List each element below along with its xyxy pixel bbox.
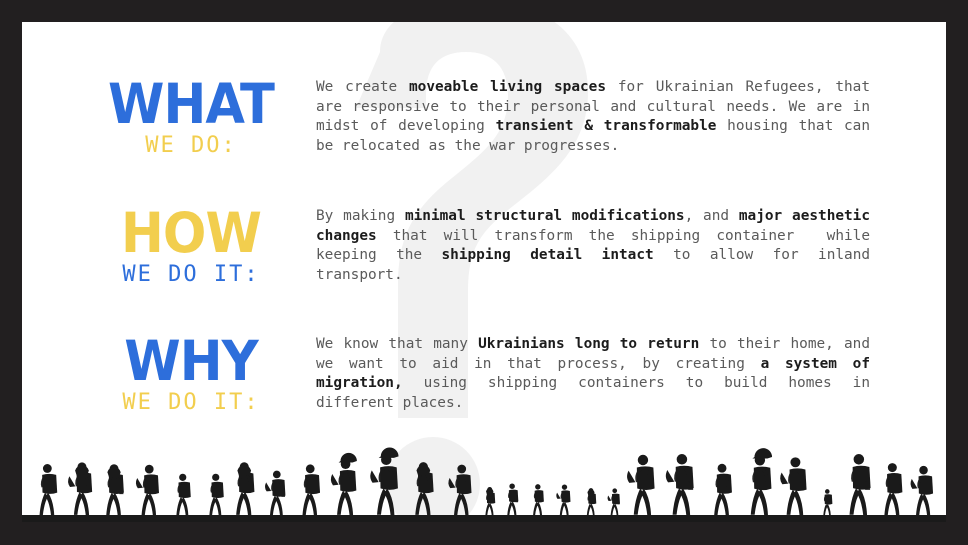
section-how-heading: HOW WE DO IT: <box>80 207 302 287</box>
section-how-subtitle: WE DO IT: <box>80 263 302 287</box>
section-what-body: We create moveable living spaces for Ukr… <box>302 78 870 156</box>
section-why-title: WHY <box>88 335 294 387</box>
section-what: WHAT WE DO: We create moveable living sp… <box>80 78 870 158</box>
section-how-title: HOW <box>88 207 294 259</box>
section-what-subtitle: WE DO: <box>80 134 302 158</box>
section-what-title: WHAT <box>88 78 294 130</box>
section-what-heading: WHAT WE DO: <box>80 78 302 158</box>
section-why-body: We know that many Ukrainians long to ret… <box>302 335 870 413</box>
refugee-silhouettes <box>22 442 946 522</box>
section-what-paragraph: We create moveable living spaces for Ukr… <box>316 78 870 156</box>
section-how: HOW WE DO IT: By making minimal structur… <box>80 207 870 287</box>
section-why-heading: WHY WE DO IT: <box>80 335 302 415</box>
section-why: WHY WE DO IT: We know that many Ukrainia… <box>80 335 870 415</box>
section-how-body: By making minimal structural modificatio… <box>302 207 870 285</box>
slide-canvas: WHAT WE DO: We create moveable living sp… <box>22 22 946 522</box>
section-how-paragraph: By making minimal structural modificatio… <box>316 207 870 285</box>
section-why-subtitle: WE DO IT: <box>80 391 302 415</box>
section-why-paragraph: We know that many Ukrainians long to ret… <box>316 335 870 413</box>
